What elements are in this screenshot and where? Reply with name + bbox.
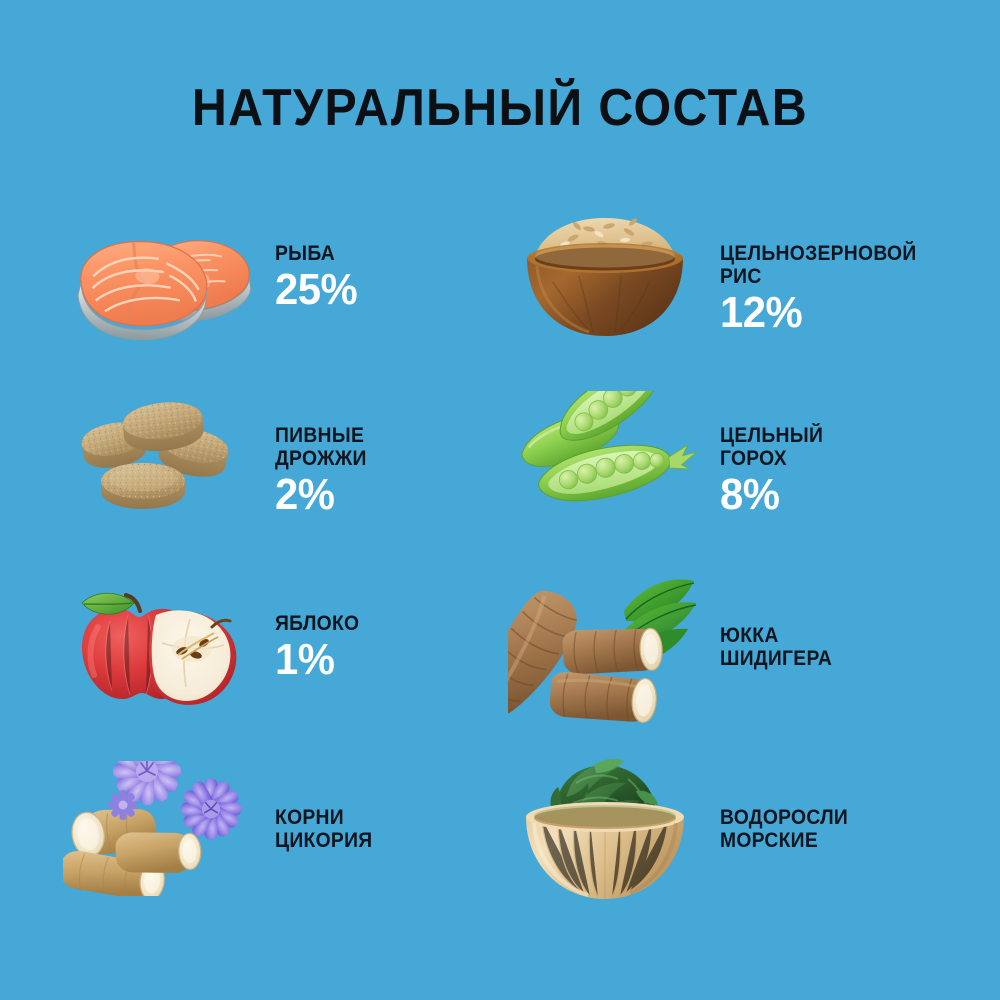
ingredient-text-brewers-yeast: ПИВНЫЕ ДРОЖЖИ 2%: [275, 424, 490, 518]
ingredient-label: РЫБА: [275, 242, 473, 265]
ingredient-item-apple[interactable]: ЯБЛОКО 1%: [60, 566, 490, 751]
ingredient-grid: РЫБА 25%: [0, 196, 1000, 956]
ingredient-percent: 25%: [275, 267, 479, 313]
ingredient-percent: 8%: [720, 472, 924, 518]
seaweed-bowl-icon: [505, 748, 705, 908]
ingredient-item-yucca-schidigera[interactable]: ЮККА ШИДИГЕРА: [505, 566, 935, 751]
ingredient-label: ПИВНЫЕ ДРОЖЖИ: [275, 424, 473, 470]
ingredient-label: КОРНИ ЦИКОРИЯ: [275, 806, 473, 852]
ingredient-item-brewers-yeast[interactable]: ПИВНЫЕ ДРОЖЖИ 2%: [60, 378, 490, 563]
ingredient-label: ВОДОРОСЛИ МОРСКИЕ: [720, 806, 918, 852]
ingredient-percent: 1%: [275, 637, 479, 683]
ingredient-item-whole-grain-rice[interactable]: ЦЕЛЬНОЗЕРНОВОЙ РИС 12%: [505, 196, 935, 381]
ingredient-label: ЯБЛОКО: [275, 612, 473, 635]
ingredient-text-fish: РЫБА 25%: [275, 242, 490, 313]
ingredient-item-fish[interactable]: РЫБА 25%: [60, 196, 490, 381]
rice-bowl-icon: [505, 196, 705, 356]
salmon-steak-icon: [60, 196, 260, 356]
ingredient-text-whole-grain-rice: ЦЕЛЬНОЗЕРНОВОЙ РИС 12%: [720, 242, 935, 336]
ingredient-item-chicory-roots[interactable]: КОРНИ ЦИКОРИЯ: [60, 748, 490, 933]
yucca-root-icon: [505, 566, 705, 726]
ingredient-item-whole-pea[interactable]: ЦЕЛЬНЫЙ ГОРОХ 8%: [505, 378, 935, 563]
page-title: НАТУРАЛЬНЫЙ СОСТАВ: [35, 78, 965, 138]
ingredient-label: ЦЕЛЬНОЗЕРНОВОЙ РИС: [720, 242, 918, 288]
ingredient-percent: 2%: [275, 472, 479, 518]
ingredient-text-whole-pea: ЦЕЛЬНЫЙ ГОРОХ 8%: [720, 424, 935, 518]
ingredient-label: ЮККА ШИДИГЕРА: [720, 624, 918, 670]
apple-icon: [60, 566, 260, 726]
yeast-tablets-icon: [60, 378, 260, 538]
pea-pods-icon: [505, 378, 705, 538]
infographic-page: НАТУРАЛЬНЫЙ СОСТАВ: [0, 0, 1000, 1000]
ingredient-text-yucca-schidigera: ЮККА ШИДИГЕРА: [720, 624, 935, 670]
ingredient-percent: 12%: [720, 290, 924, 336]
ingredient-item-sea-algae[interactable]: ВОДОРОСЛИ МОРСКИЕ: [505, 748, 935, 933]
ingredient-label: ЦЕЛЬНЫЙ ГОРОХ: [720, 424, 918, 470]
ingredient-text-apple: ЯБЛОКО 1%: [275, 612, 490, 683]
chicory-root-flower-icon: [60, 748, 260, 908]
ingredient-text-sea-algae: ВОДОРОСЛИ МОРСКИЕ: [720, 806, 935, 852]
ingredient-text-chicory-roots: КОРНИ ЦИКОРИЯ: [275, 806, 490, 852]
